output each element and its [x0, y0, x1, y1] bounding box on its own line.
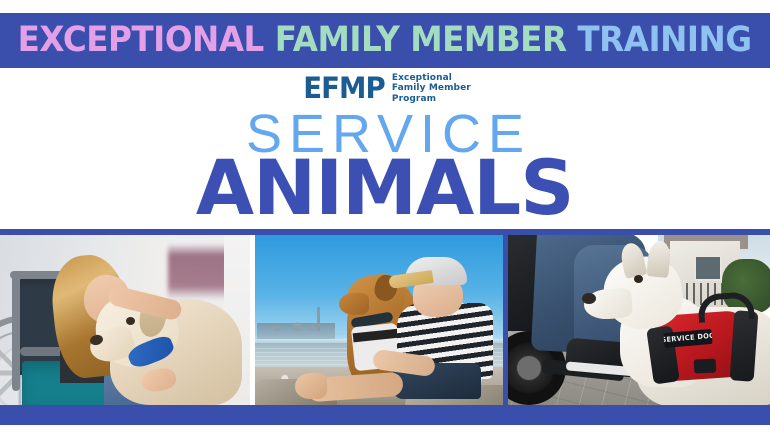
photo2-boy-foot — [295, 373, 327, 399]
photo1-chair-post — [12, 271, 20, 391]
header-banner: EXCEPTIONAL FAMILY MEMBER TRAINING — [0, 13, 770, 68]
efmp-logo: EFMP Exceptional Family Member Program — [0, 71, 770, 105]
title-line-animals-wrap: ANIMALS — [0, 150, 770, 226]
photo3-dog-nose — [582, 293, 596, 304]
header-word-training: TRAINING — [578, 20, 752, 60]
footer-banner — [0, 405, 770, 425]
photo3-house-window — [694, 255, 722, 281]
photo3-harness-buckle — [694, 358, 717, 373]
header-title: EXCEPTIONAL FAMILY MEMBER TRAINING — [18, 23, 752, 58]
photo2-rollercoaster — [267, 319, 321, 331]
efmp-logo-tagline: Exceptional Family Member Program — [392, 72, 471, 105]
photo2-dog-muzzle — [339, 293, 369, 315]
photo-boy-beach-service-dog — [255, 235, 503, 405]
photo-shepherd-wheelchair: SERVICE DOG — [508, 235, 770, 405]
photo3-service-dog-patch-text: SERVICE DOG — [663, 333, 712, 345]
header-space-2 — [567, 20, 578, 60]
photo-strip: SERVICE DOG — [0, 235, 770, 405]
header-word-family-member: FAMILY MEMBER — [275, 20, 567, 60]
photo2-pier-mast — [317, 307, 320, 331]
efmp-logo-mark: EFMP — [303, 74, 384, 103]
photo3-harness-strap-rear — [730, 310, 759, 382]
efmp-tagline-line-2: Family Member — [392, 83, 471, 94]
title-animals: ANIMALS — [196, 150, 573, 226]
efmp-tagline-line-1: Exceptional — [392, 73, 471, 84]
efmp-tagline-line-3: Program — [392, 94, 471, 105]
photo3-dog-eye — [634, 275, 643, 283]
photo-wheelchair-golden-retriever — [0, 235, 250, 405]
header-word-exceptional: EXCEPTIONAL — [18, 20, 264, 60]
photo1-dog-eye — [126, 317, 135, 325]
